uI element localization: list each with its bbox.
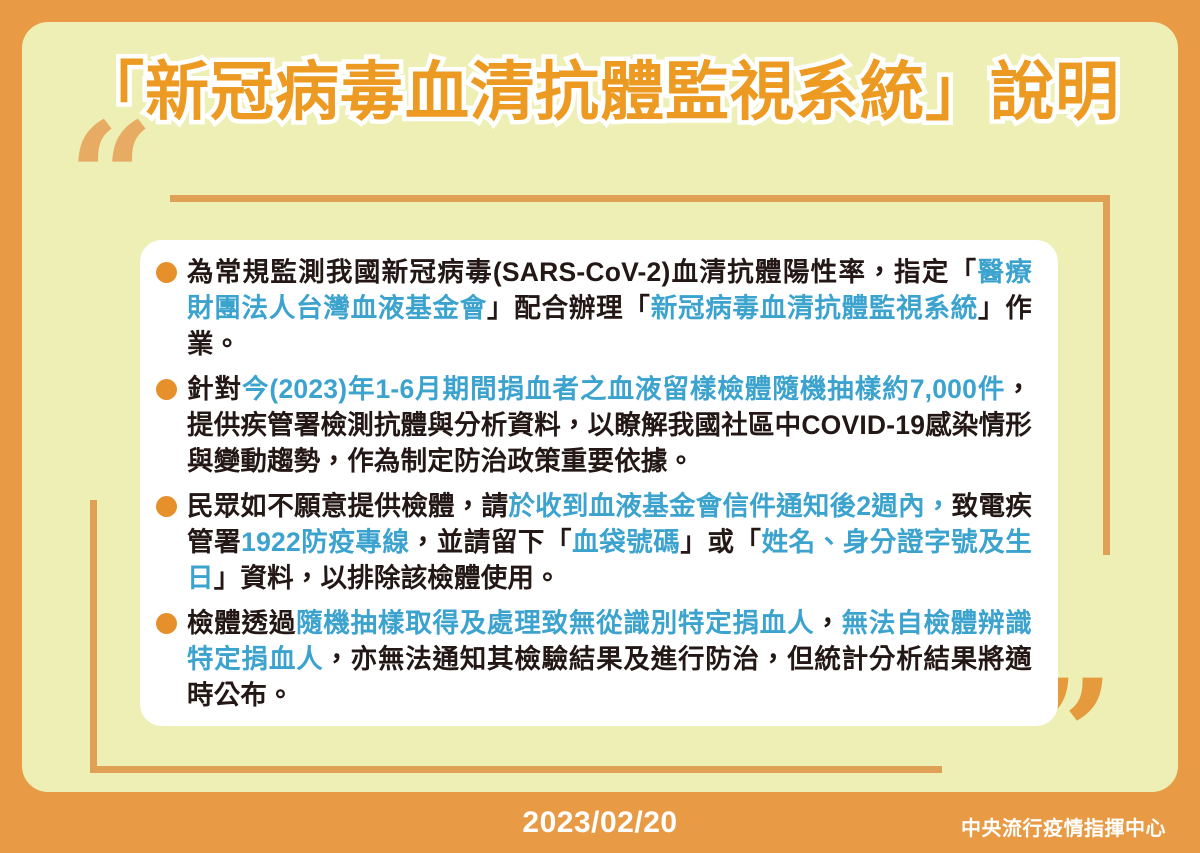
highlighted-text: 1922防疫專線 [241,527,409,557]
body-text: 檢體透過 [187,608,296,638]
footer-organization: 中央流行疫情指揮中心 [961,812,1166,841]
bullet-dot-icon [156,379,177,400]
highlighted-text: 新冠病毒血清抗體監視系統 [651,293,978,323]
body-text: 」資料，以排除該檢體使用。 [214,563,561,593]
body-text: ， [814,608,841,638]
highlighted-text: 今(2023)年1-6月期間捐血者之血液留樣檢體隨機抽樣約7,000件 [242,374,1005,404]
body-text: 針對 [187,374,242,404]
bullet-item: 為常規監測我國新冠病毒(SARS-CoV-2)血清抗體陽性率，指定「醫療財團法人… [154,254,1032,362]
body-text: 」或「 [680,527,761,557]
quote-open-icon: “ [68,103,154,253]
highlighted-text: 血袋號碼 [572,527,680,557]
bullet-dot-icon [156,496,177,517]
decor-bracket-bottom-vertical [90,500,97,773]
poster-root: 「新冠病毒血清抗體監視系統」說明 “ ” 為常規監測我國新冠病毒(SARS-Co… [0,0,1200,853]
decor-bracket-top-vertical [1103,195,1110,555]
decor-bracket-bottom-horizontal [90,766,942,773]
body-text: 為常規監測我國新冠病毒(SARS-CoV-2)血清抗體陽性率，指定「 [187,257,978,287]
content-card: 為常規監測我國新冠病毒(SARS-CoV-2)血清抗體陽性率，指定「醫療財團法人… [140,240,1058,726]
bullet-list: 為常規監測我國新冠病毒(SARS-CoV-2)血清抗體陽性率，指定「醫療財團法人… [154,254,1032,713]
bullet-item: 民眾如不願意提供檢體，請於收到血液基金會信件通知後2週內，致電疾管署1922防疫… [154,488,1032,596]
highlighted-text: 隨機抽樣取得及處理致無從識別特定捐血人 [296,608,814,638]
decor-bracket-top-horizontal [170,195,1110,202]
body-text: ，並請留下「 [410,527,572,557]
bullet-dot-icon [156,613,177,634]
page-title: 「新冠病毒血清抗體監視系統」說明 [0,58,1200,127]
highlighted-text: 於收到血液基金會信件通知後2週內， [508,491,951,521]
bullet-item: 檢體透過隨機抽樣取得及處理致無從識別特定捐血人，無法自檢體辨識特定捐血人，亦無法… [154,605,1032,713]
bullet-dot-icon [156,262,177,283]
body-text: 」配合辦理「 [487,293,651,323]
bullet-item: 針對今(2023)年1-6月期間捐血者之血液留樣檢體隨機抽樣約7,000件，提供… [154,371,1032,479]
body-text: 民眾如不願意提供檢體，請 [187,491,508,521]
